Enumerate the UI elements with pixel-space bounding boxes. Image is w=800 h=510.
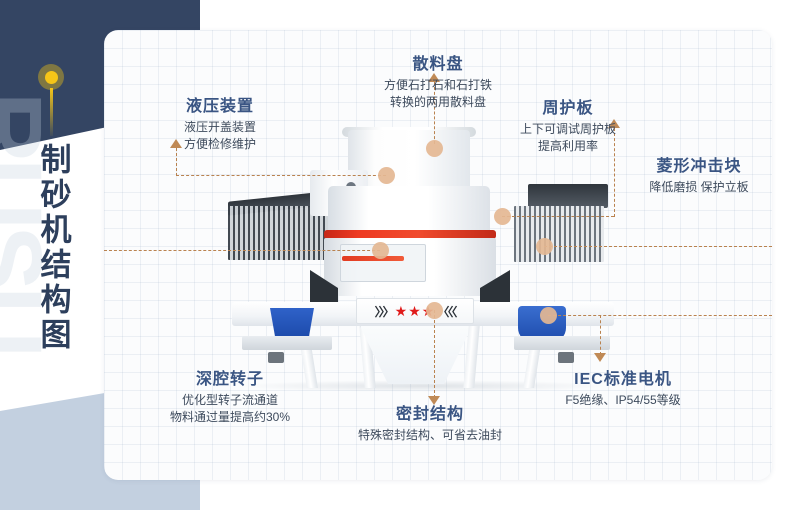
brand-badge-plate: 〉〉〉 ★★★ 〈〈〈	[356, 298, 474, 324]
callout-motor[interactable]: IEC标准电机 F5绝缘、IP54/55等级	[528, 365, 718, 409]
base-pad	[268, 352, 284, 363]
hotspot-dot-motor	[540, 307, 557, 324]
left-base-foot	[242, 336, 332, 350]
callout-title: 深腔转子	[130, 365, 330, 389]
hotspot-dot-rotor	[372, 242, 389, 259]
callout-line: 液压开盖装置	[150, 119, 290, 136]
callout-title: 液压装置	[150, 92, 290, 116]
callout-line: 上下可调试周护板	[490, 121, 646, 138]
base-pad	[558, 352, 574, 363]
callout-title: 密封结构	[328, 400, 532, 424]
callout-impact-block[interactable]: 菱形冲击块 降低磨损 保护立板	[606, 152, 792, 196]
callout-title: IEC标准电机	[528, 365, 718, 389]
callout-line: 优化型转子流通道	[130, 392, 330, 409]
callout-line: 方便石打石和石打铁	[348, 77, 528, 94]
hotspot-dot-impact	[536, 238, 553, 255]
page-title: 制砂机结构图	[36, 143, 69, 353]
callout-seal[interactable]: 密封结构 特殊密封结构、可省去油封	[328, 400, 532, 444]
map-pin-icon	[38, 64, 64, 90]
right-walkway-rail	[528, 184, 608, 208]
infographic-root: RUSU 制砂机结构图 〉〉〉	[0, 0, 800, 510]
callout-title: 周护板	[490, 94, 646, 118]
discharge-funnel	[360, 326, 472, 384]
hotspot-dot-tray	[426, 140, 443, 157]
hotspot-dot-hydraulic	[378, 167, 395, 184]
callout-line: 特殊密封结构、可省去油封	[328, 427, 532, 444]
callout-title: 菱形冲击块	[606, 152, 792, 176]
callout-title: 散料盘	[348, 50, 528, 74]
callout-hydraulic[interactable]: 液压装置 液压开盖装置 方便检修维护	[150, 92, 290, 154]
map-pin-core	[45, 71, 58, 84]
callout-guard[interactable]: 周护板 上下可调试周护板 提高利用率	[490, 94, 646, 156]
hotspot-dot-seal	[426, 302, 443, 319]
callout-line: F5绝缘、IP54/55等级	[528, 392, 718, 409]
hotspot-dot-guard	[494, 208, 511, 225]
upper-crusher-body	[328, 186, 490, 234]
callout-rotor[interactable]: 深腔转子 优化型转子流通道 物料通过量提高约30%	[130, 365, 330, 427]
callout-line: 降低磨损 保护立板	[606, 179, 792, 196]
callout-line: 物料通过量提高约30%	[130, 409, 330, 426]
sand-making-machine-illustration: 〉〉〉 ★★★ 〈〈〈	[228, 130, 618, 385]
right-grate-platform	[514, 206, 604, 262]
map-pin-stem	[50, 88, 53, 136]
red-hydraulic-rod	[342, 256, 404, 261]
callout-line: 方便检修维护	[150, 136, 290, 153]
badge-left-chevrons-icon: 〉〉〉	[375, 303, 393, 320]
right-base-foot	[514, 336, 610, 350]
